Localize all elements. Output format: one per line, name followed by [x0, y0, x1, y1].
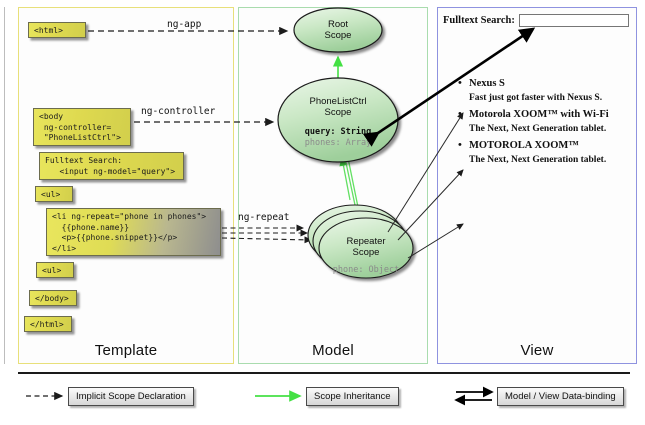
arrow-repeater-to-view-item-3 — [408, 224, 463, 258]
repeater-scope-line2: Scope — [353, 247, 380, 258]
repeater-scope-line1: Repeater — [346, 236, 385, 247]
legend-scope-inheritance: Scope Inheritance — [306, 387, 399, 406]
phone-snippet: Fast just got faster with Nexus S. — [458, 93, 638, 103]
phonelistctrl-scope-ellipse — [278, 78, 398, 162]
diagram-canvas: Template Model View <html> <body ng-cont… — [0, 0, 645, 425]
arrow-repeater-to-view-item-1 — [388, 113, 463, 232]
diagram-arrows-layer: Repeater Scope phone: Object PhoneListCt… — [0, 0, 645, 425]
root-scope-line2: Scope — [325, 30, 352, 41]
arrow-ng-repeat-3 — [222, 238, 311, 240]
view-search-row: Fulltext Search: — [443, 14, 633, 27]
view-phone-list: Nexus S Fast just got faster with Nexus … — [458, 78, 638, 171]
legend-implicit-scope-declaration: Implicit Scope Declaration — [68, 387, 194, 406]
phonelistctrl-scope-line2: Scope — [325, 107, 352, 118]
legend-model-view-data-binding: Model / View Data-binding — [497, 387, 624, 406]
phonelistctrl-scope-prop-phones: phones: Array — [305, 138, 372, 148]
list-item: MOTOROLA XOOM™ The Next, Next Generation… — [458, 140, 638, 165]
phone-snippet: The Next, Next Generation tablet. — [458, 155, 638, 165]
view-search-label: Fulltext Search: — [443, 15, 515, 26]
list-item: Nexus S Fast just got faster with Nexus … — [458, 78, 638, 103]
phonelistctrl-scope-line1: PhoneListCtrl — [309, 96, 366, 107]
repeater-scope-prop-phone: phone: Object — [333, 265, 400, 275]
list-item: Motorola XOOM™ with Wi-Fi The Next, Next… — [458, 109, 638, 134]
phone-name: MOTOROLA XOOM™ — [458, 140, 638, 151]
fulltext-search-input[interactable] — [519, 14, 629, 27]
phone-name: Nexus S — [458, 78, 638, 89]
phone-name: Motorola XOOM™ with Wi-Fi — [458, 109, 638, 120]
phone-snippet: The Next, Next Generation tablet. — [458, 124, 638, 134]
arrow-scope-inheritance-repeater-3 — [348, 158, 359, 212]
legend-divider — [18, 372, 630, 374]
root-scope-line1: Root — [328, 19, 348, 30]
phonelistctrl-scope-prop-query: query: String — [305, 126, 372, 137]
